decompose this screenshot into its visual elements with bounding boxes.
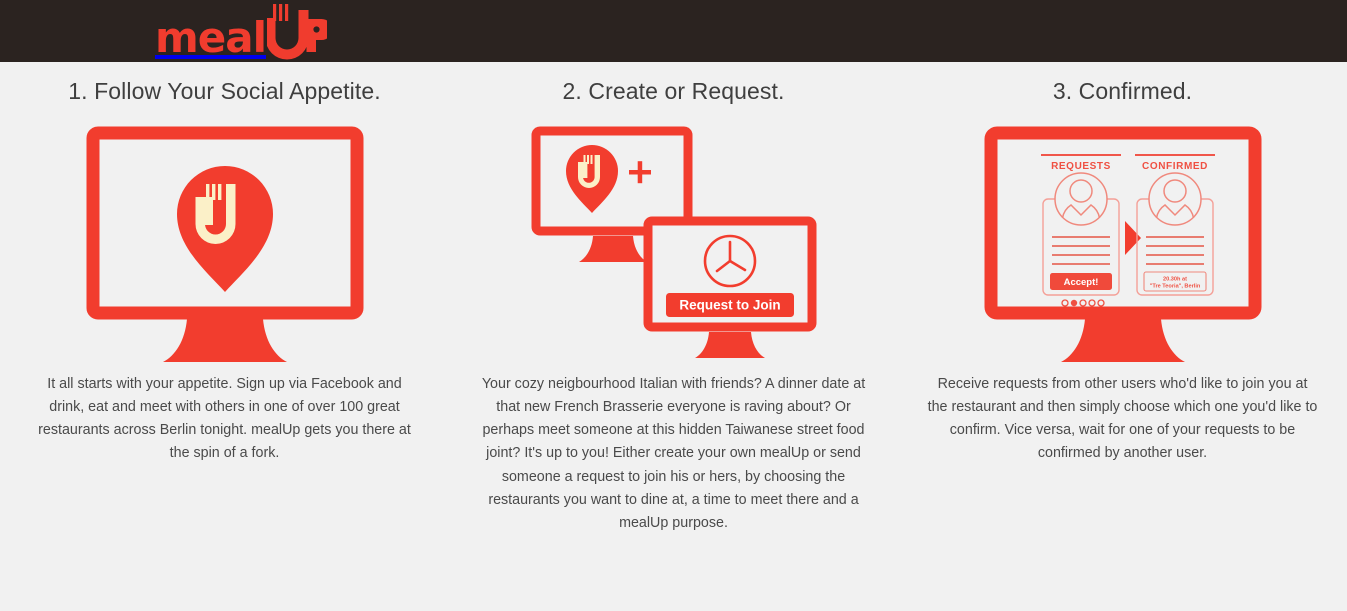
confirmed-detail-time: 20.30h at: [1163, 277, 1187, 283]
requests-column-label: REQUESTS: [1051, 161, 1111, 172]
step-2-create-or-request: 2. Create or Request.: [449, 78, 898, 535]
logo-mealup[interactable]: meal: [155, 4, 327, 59]
site-header: meal: [0, 0, 1347, 62]
step-1-illustration: [0, 113, 449, 373]
step-3-title: 3. Confirmed.: [1053, 78, 1192, 107]
step-1-body: It all starts with your appetite. Sign u…: [29, 373, 421, 466]
arrow-right-icon: [1125, 221, 1141, 255]
requests-column: REQUESTS Accept!: [1041, 155, 1121, 306]
confirmed-column: CONFIRMED 20.30h at: [1135, 155, 1215, 295]
monitor-request: Request to Join: [648, 221, 812, 358]
confirmed-column-label: CONFIRMED: [1142, 161, 1208, 172]
logo-wordmark: meal: [155, 17, 266, 59]
how-it-works-steps: 1. Follow Your Social Appetite.: [0, 62, 1347, 535]
pagination-dots: [1062, 300, 1104, 306]
step-2-body: Your cozy neigbourhood Italian with frie…: [480, 373, 868, 535]
location-pin-glyph: [177, 166, 273, 292]
step-3-body: Receive requests from other users who'd …: [927, 373, 1319, 466]
step-1-follow-your-social-appetite: 1. Follow Your Social Appetite.: [0, 78, 449, 535]
step-3-illustration: REQUESTS Accept!: [898, 113, 1347, 373]
step-2-title: 2. Create or Request.: [563, 78, 785, 107]
avatar-confirmed: [1149, 173, 1201, 225]
avatar-requests: [1055, 173, 1107, 225]
accept-button-label: Accept!: [1063, 277, 1098, 288]
step-3-confirmed: 3. Confirmed. REQUESTS: [898, 78, 1347, 535]
confirmed-detail-place: "Tre Teoria", Berlin: [1149, 284, 1200, 290]
request-to-join-button-label: Request to Join: [679, 298, 780, 313]
step-1-title: 1. Follow Your Social Appetite.: [68, 78, 381, 107]
step-2-illustration: Request to Join: [449, 113, 898, 373]
logo-fork-u-icon: [267, 4, 327, 60]
